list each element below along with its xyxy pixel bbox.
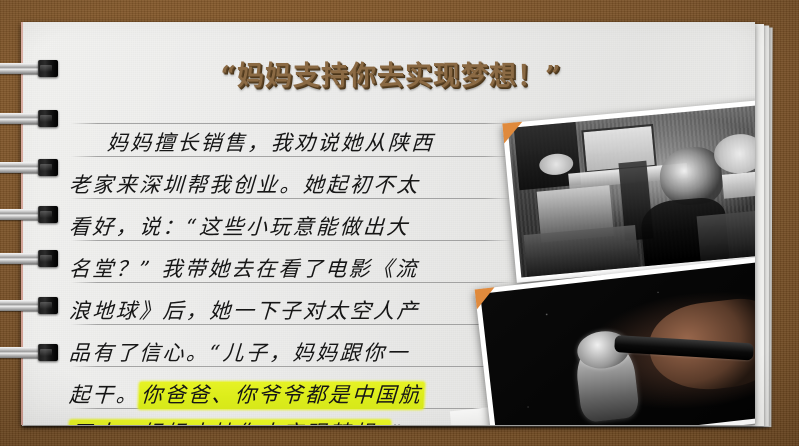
body-line-2: 老家来深圳帮我创业。她起初不太 [68,175,420,196]
body-line-8-highlight: 天人，妈妈支持你去实现梦想。 [68,420,391,425]
spiral-clip [38,110,58,127]
photo-corner-icon [475,287,497,309]
spiral-ring [0,159,58,176]
workshop-photo[interactable] [502,97,755,283]
photo-corner-icon [502,122,524,144]
body-line-7-highlight: 你爸爸、你爷爷都是中国航 [138,382,424,409]
spiral-clip [38,250,58,267]
body-line-7: 起干。你爸爸、你爷爷都是中国航 [68,385,424,406]
spiral-ring [0,206,58,223]
body-line-3: 看好，说：“这些小玩意能做出大 [68,217,410,238]
spiral-clip [38,206,58,223]
spiral-ring [0,344,58,361]
body-line-7-plain: 起干。 [68,383,139,407]
rule-line [71,324,511,325]
body-line-4: 名堂？” 我带她去在看了电影《流 [68,259,419,280]
slide-canvas: “妈妈支持你去实现梦想！” 妈妈擅长销售，我劝说她从陕西 老家来深圳帮我创业。她… [0,0,799,446]
rule-line [71,123,511,124]
astronaut-figurine-photo-image [480,261,755,425]
body-line-8: 天人，妈妈支持你去实现梦想。” [68,423,403,425]
spiral-clip [38,60,58,77]
spiral-clip [38,297,58,314]
photo-shape [722,169,755,199]
rule-line [71,240,511,241]
rule-line [71,282,511,283]
spiral-ring [0,250,58,267]
spiral-clip [38,344,58,361]
body-line-8-close-quote: ” [390,421,404,425]
page-content: “妈妈支持你去实现梦想！” 妈妈擅长销售，我劝说她从陕西 老家来深圳帮我创业。她… [21,22,755,425]
photo-shape [697,208,755,262]
page-title: “妈妈支持你去实现梦想！” [131,54,651,93]
rule-line [71,366,511,367]
body-line-1: 妈妈擅长销售，我劝说她从陕西 [106,133,435,154]
workshop-photo-image [508,103,755,278]
spiral-ring [0,60,58,77]
spiral-ring [0,297,58,314]
spiral-clip [38,159,58,176]
rule-line [71,156,511,157]
photo-shape [523,225,639,277]
rule-line [71,198,511,199]
spiral-ring [0,110,58,127]
body-line-5: 浪地球》后，她一下子对太空人产 [68,301,420,322]
notebook-page: “妈妈支持你去实现梦想！” 妈妈擅长销售，我劝说她从陕西 老家来深圳帮我创业。她… [21,22,755,425]
body-line-6: 品有了信心。“儿子，妈妈跟你一 [68,343,410,364]
